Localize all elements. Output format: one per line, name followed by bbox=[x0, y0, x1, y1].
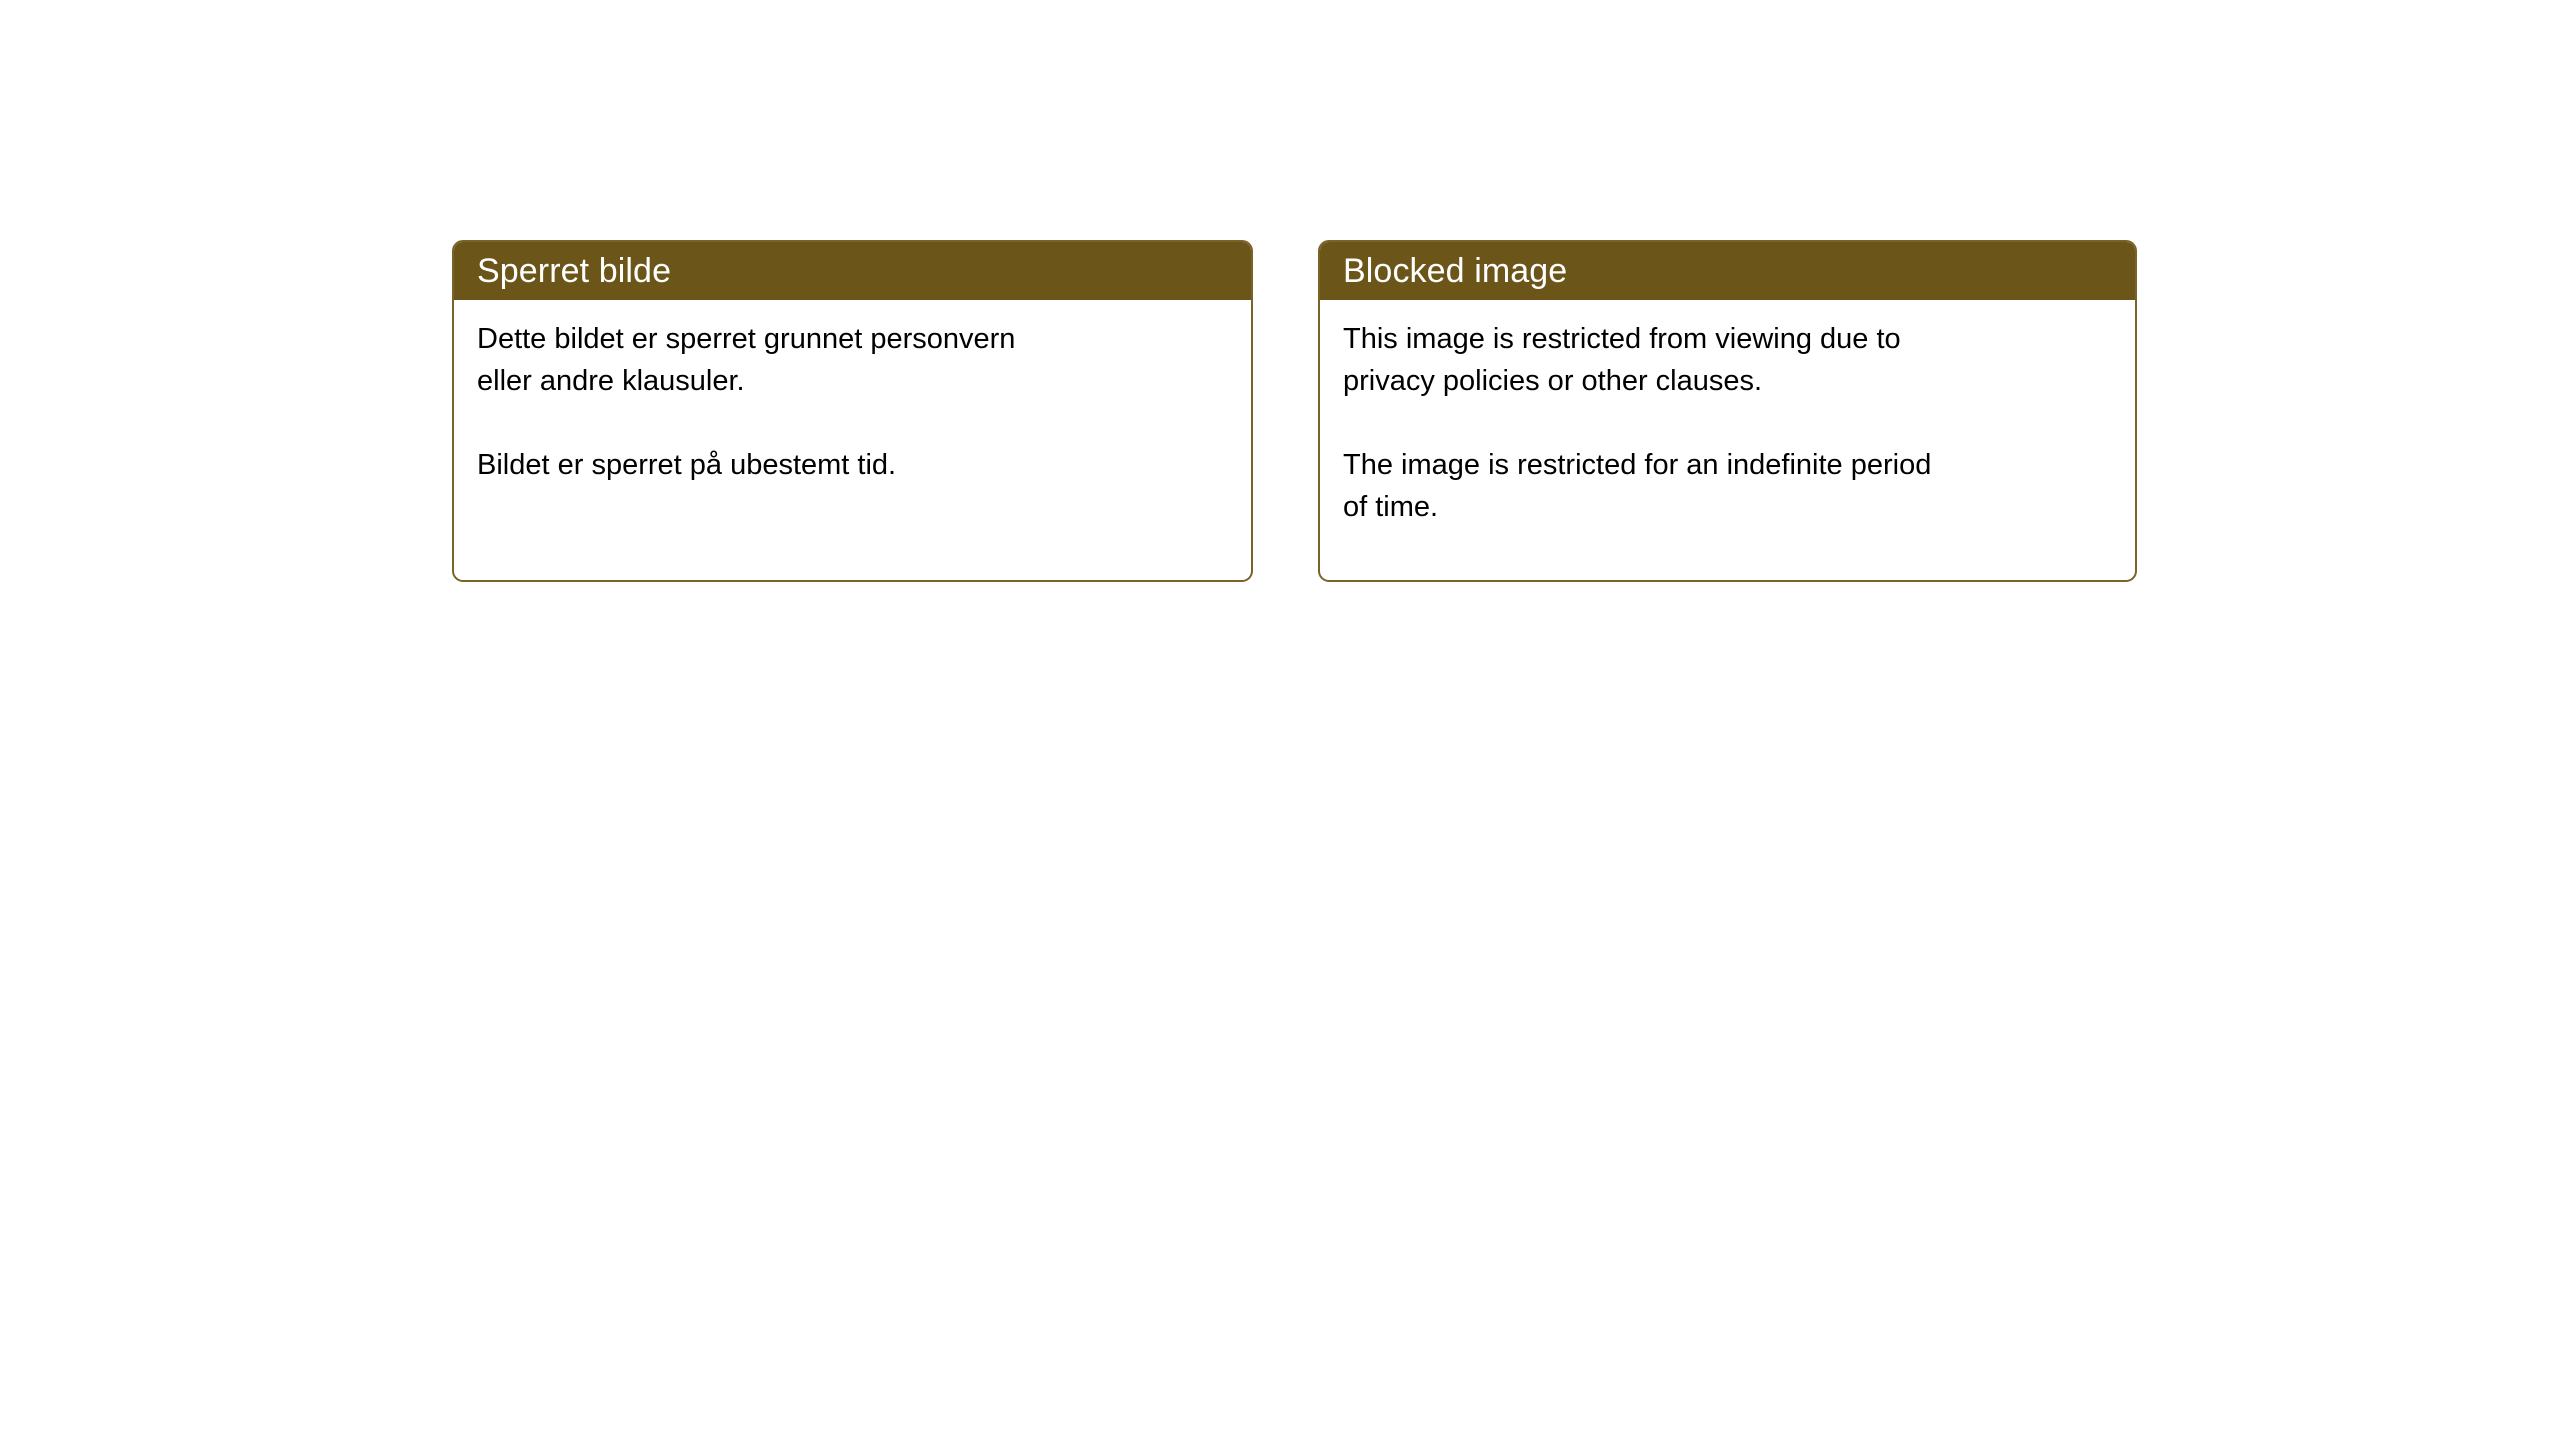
card-header-norwegian: Sperret bilde bbox=[454, 242, 1251, 300]
page-root: Sperret bilde Dette bildet er sperret gr… bbox=[0, 0, 2560, 1440]
blocked-image-notice-card-english: Blocked image This image is restricted f… bbox=[1318, 240, 2137, 582]
card-paragraph-primary-norwegian: Dette bildet er sperret grunnet personve… bbox=[477, 318, 1229, 402]
card-title-english: Blocked image bbox=[1343, 254, 1567, 288]
card-title-norwegian: Sperret bilde bbox=[477, 254, 671, 288]
card-body-english: This image is restricted from viewing du… bbox=[1320, 300, 2135, 528]
card-header-english: Blocked image bbox=[1320, 242, 2135, 300]
card-paragraph-secondary-norwegian: Bildet er sperret på ubestemt tid. bbox=[477, 444, 1229, 486]
card-paragraph-primary-english: This image is restricted from viewing du… bbox=[1343, 318, 2113, 402]
card-paragraph-secondary-english: The image is restricted for an indefinit… bbox=[1343, 444, 2113, 528]
blocked-image-notice-card-norwegian: Sperret bilde Dette bildet er sperret gr… bbox=[452, 240, 1253, 582]
card-body-norwegian: Dette bildet er sperret grunnet personve… bbox=[454, 300, 1251, 486]
